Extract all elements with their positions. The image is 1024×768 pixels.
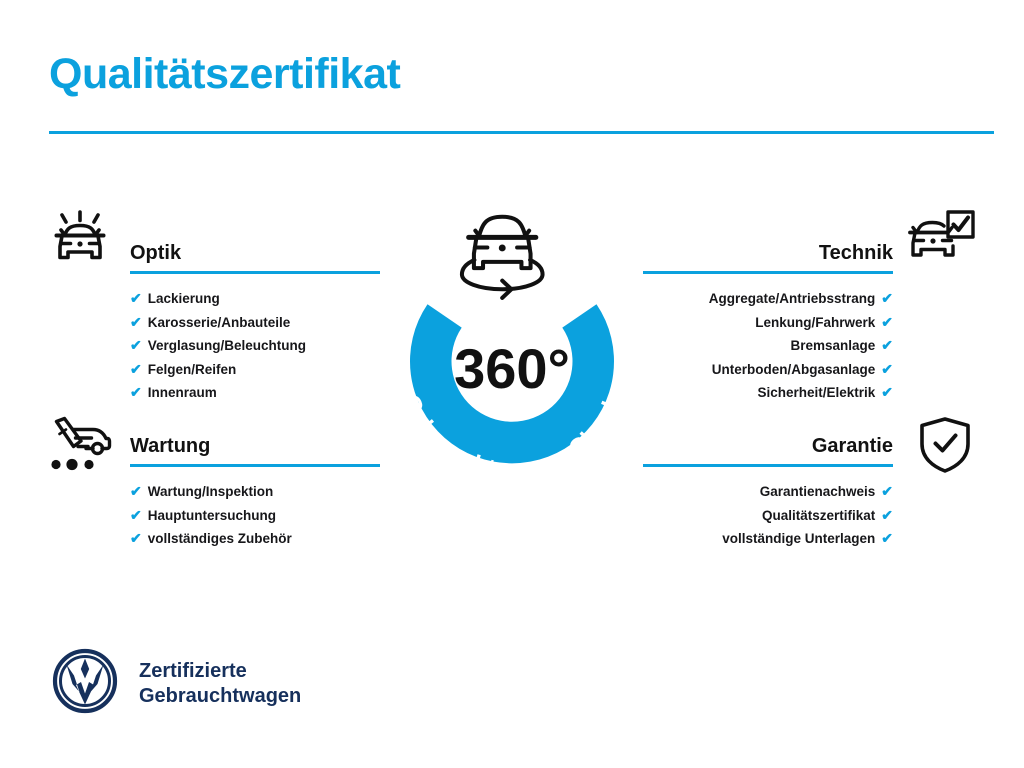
section-divider <box>643 464 893 467</box>
check-icon: ✔ <box>130 358 142 382</box>
check-icon: ✔ <box>130 334 142 358</box>
pencil-car-service-icon <box>46 416 112 479</box>
check-icon: ✔ <box>881 381 893 405</box>
list-item: Garantienachweis✔ <box>643 480 893 504</box>
check-icon: ✔ <box>881 311 893 335</box>
list-item-label: Verglasung/Beleuchtung <box>148 334 306 358</box>
section-header-wartung: Wartung <box>130 433 380 467</box>
check-icon: ✔ <box>881 334 893 358</box>
list-item-label: Felgen/Reifen <box>148 358 237 382</box>
title-divider <box>49 131 994 134</box>
checklist-garantie: Garantienachweis✔ Qualitätszertifikat✔ v… <box>643 480 893 551</box>
list-item-label: Unterboden/Abgasanlage <box>712 358 876 382</box>
list-item: ✔Hauptuntersuchung <box>130 504 380 528</box>
car-rotate-icon <box>462 217 543 298</box>
section-header-optik: Optik <box>130 240 380 274</box>
check-icon: ✔ <box>881 480 893 504</box>
section-garantie: Garantie Garantienachweis✔ Qualitätszert… <box>643 433 893 551</box>
list-item: ✔Lackierung <box>130 287 380 311</box>
car-front-checkbox-icon <box>908 209 976 274</box>
shield-check-icon <box>917 416 973 479</box>
checklist-technik: Aggregate/Antriebsstrang✔ Lenkung/Fahrwe… <box>643 287 893 405</box>
section-divider <box>130 464 380 467</box>
list-item: Lenkung/Fahrwerk✔ <box>643 311 893 335</box>
check-icon: ✔ <box>881 287 893 311</box>
list-item: Aggregate/Antriebsstrang✔ <box>643 287 893 311</box>
section-optik: Optik ✔Lackierung ✔Karosserie/Anbauteile… <box>130 240 380 405</box>
section-title: Wartung <box>130 433 380 459</box>
section-divider <box>643 271 893 274</box>
check-icon: ✔ <box>130 381 142 405</box>
list-item: ✔Karosserie/Anbauteile <box>130 311 380 335</box>
list-item: Unterboden/Abgasanlage✔ <box>643 358 893 382</box>
list-item-label: vollständiges Zubehör <box>148 527 292 551</box>
badge-360-check: 360° Gebrauchtwagen-Check <box>372 196 652 486</box>
list-item-label: Lenkung/Fahrwerk <box>755 311 875 335</box>
list-item-label: Sicherheit/Elektrik <box>757 381 875 405</box>
check-icon: ✔ <box>130 504 142 528</box>
footer-logo-text: Zertifizierte Gebrauchtwagen <box>139 659 301 709</box>
badge-center-label: 360° <box>454 337 570 400</box>
list-item: Qualitätszertifikat✔ <box>643 504 893 528</box>
section-technik: Technik Aggregate/Antriebsstrang✔ Lenkun… <box>643 240 893 405</box>
check-icon: ✔ <box>130 287 142 311</box>
list-item: vollständige Unterlagen✔ <box>643 527 893 551</box>
list-item: Sicherheit/Elektrik✔ <box>643 381 893 405</box>
list-item-label: Karosserie/Anbauteile <box>148 311 291 335</box>
list-item: ✔vollständiges Zubehör <box>130 527 380 551</box>
list-item-label: Qualitätszertifikat <box>762 504 875 528</box>
footer-logo: Zertifizierte Gebrauchtwagen <box>52 648 301 719</box>
car-front-shine-icon <box>48 205 112 274</box>
page-title: Qualitätszertifikat <box>49 50 400 99</box>
list-item: ✔Wartung/Inspektion <box>130 480 380 504</box>
checklist-optik: ✔Lackierung ✔Karosserie/Anbauteile ✔Verg… <box>130 287 380 405</box>
check-icon: ✔ <box>881 527 893 551</box>
list-item: Bremsanlage✔ <box>643 334 893 358</box>
list-item-label: Aggregate/Antriebsstrang <box>709 287 876 311</box>
check-icon: ✔ <box>130 311 142 335</box>
list-item-label: vollständige Unterlagen <box>722 527 875 551</box>
section-header-technik: Technik <box>643 240 893 274</box>
list-item-label: Lackierung <box>148 287 220 311</box>
section-title: Optik <box>130 240 380 266</box>
list-item-label: Wartung/Inspektion <box>148 480 274 504</box>
list-item: ✔Felgen/Reifen <box>130 358 380 382</box>
check-icon: ✔ <box>130 480 142 504</box>
check-icon: ✔ <box>881 504 893 528</box>
section-title: Technik <box>643 240 893 266</box>
checklist-wartung: ✔Wartung/Inspektion ✔Hauptuntersuchung ✔… <box>130 480 380 551</box>
section-wartung: Wartung ✔Wartung/Inspektion ✔Hauptunters… <box>130 433 380 551</box>
list-item: ✔Verglasung/Beleuchtung <box>130 334 380 358</box>
list-item: ✔Innenraum <box>130 381 380 405</box>
section-header-garantie: Garantie <box>643 433 893 467</box>
section-divider <box>130 271 380 274</box>
section-title: Garantie <box>643 433 893 459</box>
list-item-label: Garantienachweis <box>760 480 876 504</box>
list-item-label: Bremsanlage <box>790 334 875 358</box>
volkswagen-logo <box>52 648 118 719</box>
check-icon: ✔ <box>881 358 893 382</box>
list-item-label: Innenraum <box>148 381 217 405</box>
check-icon: ✔ <box>130 527 142 551</box>
list-item-label: Hauptuntersuchung <box>148 504 276 528</box>
